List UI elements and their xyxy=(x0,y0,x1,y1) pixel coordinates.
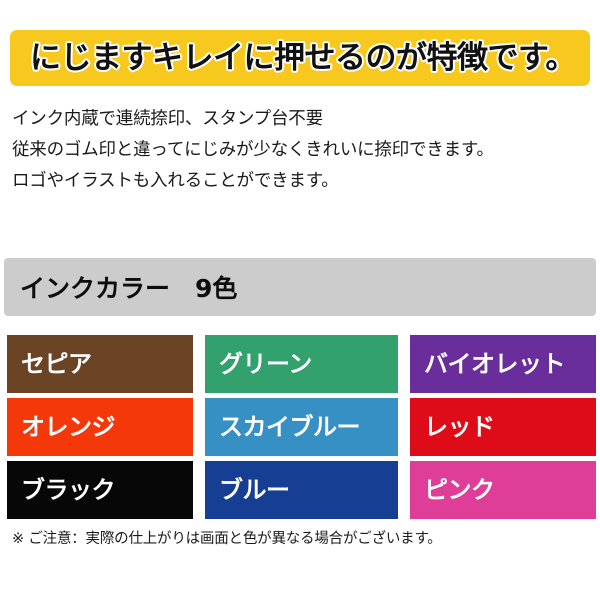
swatch-pink[interactable]: ピンク xyxy=(410,461,596,519)
description-line-2: 従来のゴム印と違ってにじみが少なくきれいに捺印できます。 xyxy=(12,135,592,166)
swatch-label: スカイブルー xyxy=(205,415,360,439)
description-line-1: インク内蔵で連続捺印、スタンプ台不要 xyxy=(12,104,592,135)
swatch-label: ブラック xyxy=(7,478,115,502)
color-disclaimer-note: ※ ご注意：実際の仕上がりは画面と色が異なる場合がございます。 xyxy=(12,529,442,549)
swatch-orange[interactable]: オレンジ xyxy=(7,398,193,456)
swatch-label: オレンジ xyxy=(7,415,115,439)
swatch-label: グリーン xyxy=(205,352,312,376)
description-line-3: ロゴやイラストも入れることができます。 xyxy=(12,166,592,197)
swatch-sky-blue[interactable]: スカイブルー xyxy=(205,398,398,456)
ink-color-swatch-grid: セピア グリーン バイオレット オレンジ スカイブルー レッド ブラック ブルー… xyxy=(7,335,596,519)
ink-color-section-bar: インクカラー 9色 xyxy=(4,258,596,316)
swatch-black[interactable]: ブラック xyxy=(7,461,193,519)
product-info-page: にじますキレイに押せるのが特徴です。 インク内蔵で連続捺印、スタンプ台不要 従来… xyxy=(0,0,600,600)
swatch-label: レッド xyxy=(410,415,495,439)
swatch-label: ピンク xyxy=(410,478,495,502)
headline-banner: にじますキレイに押せるのが特徴です。 xyxy=(10,30,590,86)
swatch-red[interactable]: レッド xyxy=(410,398,596,456)
swatch-label: セピア xyxy=(7,352,92,376)
swatch-label: ブルー xyxy=(205,478,290,502)
swatch-violet[interactable]: バイオレット xyxy=(410,335,596,393)
headline-text: にじますキレイに押せるのが特徴です。 xyxy=(10,43,576,74)
swatch-label: バイオレット xyxy=(410,352,565,376)
swatch-sepia[interactable]: セピア xyxy=(7,335,193,393)
swatch-green[interactable]: グリーン xyxy=(205,335,398,393)
description-block: インク内蔵で連続捺印、スタンプ台不要 従来のゴム印と違ってにじみが少なくきれいに… xyxy=(12,104,592,197)
ink-color-section-title: インクカラー 9色 xyxy=(4,269,237,305)
swatch-blue[interactable]: ブルー xyxy=(205,461,398,519)
